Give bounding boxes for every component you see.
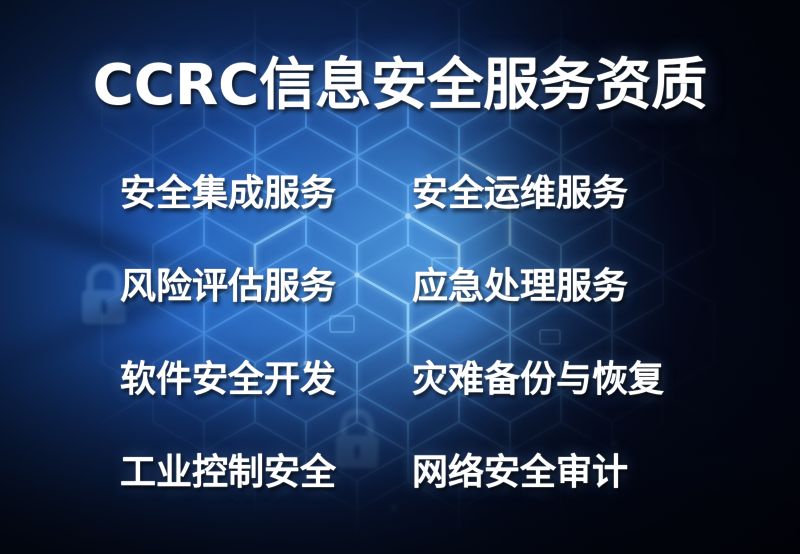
- service-row: 风险评估服务 应急处理服务: [120, 265, 690, 358]
- service-row: 工业控制安全 网络安全审计: [120, 451, 690, 544]
- service-item-software-security-dev: 软件安全开发: [120, 358, 412, 402]
- ccrc-qualification-poster: CCRC信息安全服务资质 安全集成服务 安全运维服务 风险评估服务 应急处理服务…: [0, 0, 800, 554]
- service-item-security-integration: 安全集成服务: [120, 172, 412, 216]
- poster-content: CCRC信息安全服务资质 安全集成服务 安全运维服务 风险评估服务 应急处理服务…: [0, 0, 800, 554]
- service-item-industrial-control-security: 工业控制安全: [120, 451, 412, 495]
- service-item-emergency-response: 应急处理服务: [412, 265, 690, 309]
- service-list: 安全集成服务 安全运维服务 风险评估服务 应急处理服务 软件安全开发 灾难备份与…: [120, 172, 690, 544]
- service-item-security-operations: 安全运维服务: [412, 172, 690, 216]
- service-item-risk-assessment: 风险评估服务: [120, 265, 412, 309]
- service-item-disaster-recovery: 灾难备份与恢复: [412, 358, 690, 402]
- service-row: 软件安全开发 灾难备份与恢复: [120, 358, 690, 451]
- service-row: 安全集成服务 安全运维服务: [120, 172, 690, 265]
- page-title: CCRC信息安全服务资质: [0, 54, 800, 118]
- service-item-network-security-audit: 网络安全审计: [412, 451, 690, 495]
